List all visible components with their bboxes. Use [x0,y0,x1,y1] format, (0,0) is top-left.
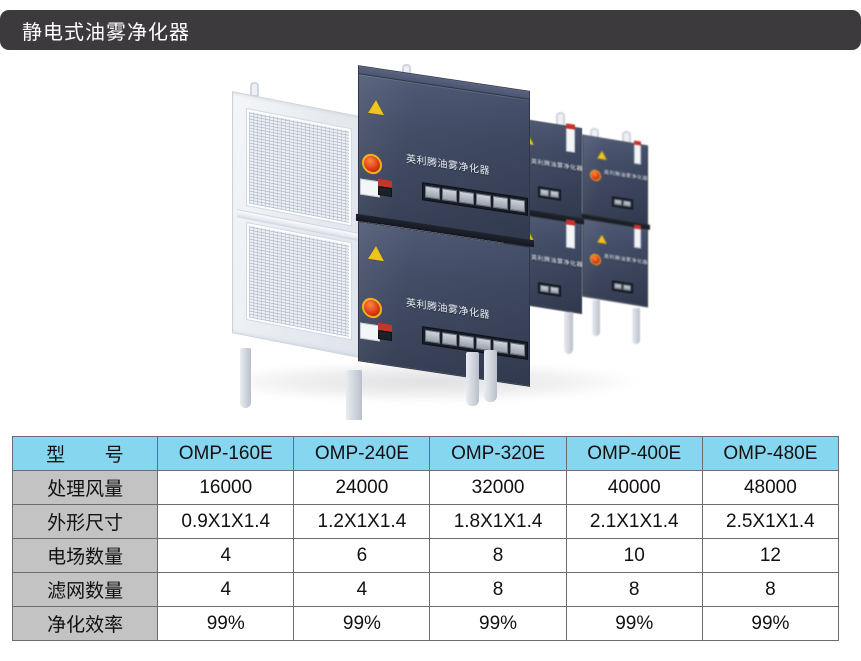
cell-field-count-2: 6 [294,539,430,573]
cell-field-count-5: 12 [702,539,838,573]
spec-label-sticker [566,223,575,248]
warning-triangle-icon [597,234,607,244]
support-leg [564,312,573,354]
cell-field-count-4: 10 [566,539,702,573]
support-leg [484,350,497,402]
table-header-model-1: OMP-160E [158,437,294,471]
cell-filter-count-3: 8 [430,573,566,607]
support-leg [466,352,479,406]
spec-label-sticker [634,227,641,248]
cell-dimensions-2: 1.2X1X1.4 [294,505,430,539]
cell-dimensions-5: 2.5X1X1.4 [702,505,838,539]
row-label-filter-count: 滤网数量 [13,573,158,607]
instruction-sticker [360,179,380,198]
cell-filter-count-2: 4 [294,573,430,607]
warning-triangle-icon [368,245,384,261]
perforated-mesh-panel [247,223,351,339]
cell-efficiency-2: 99% [294,607,430,641]
table-row: 外形尺寸 0.9X1X1.4 1.2X1X1.4 1.8X1X1.4 2.1X1… [13,505,839,539]
cell-efficiency-1: 99% [158,607,294,641]
page-title: 静电式油雾净化器 [0,16,190,45]
instruction-sticker [378,330,392,341]
table-header-model-4: OMP-400E [566,437,702,471]
support-leg [240,348,251,408]
control-module-cell[interactable] [493,196,508,210]
row-label-field-count: 电场数量 [13,539,158,573]
control-module-cell[interactable] [459,191,474,205]
table-header-model-2: OMP-240E [294,437,430,471]
support-leg [632,308,640,344]
warning-triangle-icon [368,99,384,115]
specification-table: 型 号 OMP-160E OMP-240E OMP-320E OMP-400E … [12,436,839,641]
page-header-bar: 静电式油雾净化器 [0,10,861,50]
control-module-cell[interactable] [510,342,525,356]
control-module-cell[interactable] [442,332,457,346]
table-header-model-5: OMP-480E [702,437,838,471]
control-module-cell[interactable] [425,330,440,344]
table-row: 电场数量 4 6 8 10 12 [13,539,839,573]
product-photo: 英利腾油雾净化器 英利腾油雾净化器 [230,62,660,412]
table-header-model-3: OMP-320E [430,437,566,471]
spec-label-sticker [634,143,641,164]
instruction-sticker [360,323,380,342]
row-label-dimensions: 外形尺寸 [13,505,158,539]
cell-efficiency-4: 99% [566,607,702,641]
cell-filter-count-1: 4 [158,573,294,607]
cell-airflow-4: 40000 [566,471,702,505]
instruction-sticker [378,186,392,197]
cell-filter-count-5: 8 [702,573,838,607]
table-row: 处理风量 16000 24000 32000 40000 48000 [13,471,839,505]
cell-dimensions-1: 0.9X1X1.4 [158,505,294,539]
cell-dimensions-4: 2.1X1X1.4 [566,505,702,539]
cell-field-count-3: 8 [430,539,566,573]
filter-mesh-housing [232,91,364,359]
product-unit-large: 英利腾油雾净化器 英利腾油雾净化器 [230,86,530,376]
cell-airflow-1: 16000 [158,471,294,505]
control-module-cell[interactable] [425,186,440,200]
cell-airflow-2: 24000 [294,471,430,505]
cell-efficiency-3: 99% [430,607,566,641]
spec-label-sticker [566,127,575,152]
warning-triangle-icon [597,150,607,160]
row-label-airflow: 处理风量 [13,471,158,505]
table-header-row: 型 号 OMP-160E OMP-240E OMP-320E OMP-400E … [13,437,839,471]
cell-field-count-1: 4 [158,539,294,573]
red-tag-sticker [634,140,641,145]
row-label-efficiency: 净化效率 [13,607,158,641]
control-module-cell[interactable] [476,193,491,207]
control-module-cell[interactable] [510,198,525,212]
specification-table-container: 型 号 OMP-160E OMP-240E OMP-320E OMP-400E … [12,436,839,641]
control-module-cell[interactable] [459,335,474,349]
cell-airflow-5: 48000 [702,471,838,505]
red-tag-sticker [634,224,641,229]
table-row: 滤网数量 4 4 8 8 8 [13,573,839,607]
cell-filter-count-4: 8 [566,573,702,607]
support-leg [346,370,362,420]
table-row: 净化效率 99% 99% 99% 99% 99% [13,607,839,641]
perforated-mesh-panel [247,109,351,225]
cell-airflow-3: 32000 [430,471,566,505]
cell-efficiency-5: 99% [702,607,838,641]
product-image-area: 英利腾油雾净化器 英利腾油雾净化器 [0,52,861,420]
table-header-model-label: 型 号 [13,437,158,471]
cell-dimensions-3: 1.8X1X1.4 [430,505,566,539]
control-module-cell[interactable] [442,188,457,202]
